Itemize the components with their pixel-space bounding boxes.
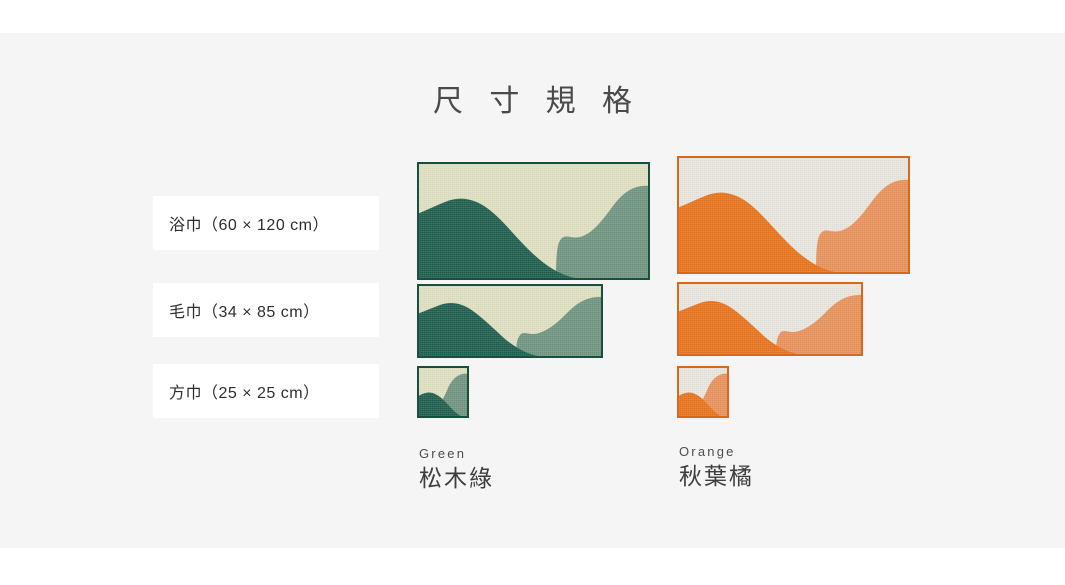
- towel-pattern-art: [417, 162, 650, 280]
- colorway-name-en: Orange: [679, 443, 754, 460]
- size-label-hand-towel: 毛巾（34 × 85 cm）: [153, 283, 379, 337]
- towel-swatch-green-hand: [417, 284, 603, 358]
- size-label-face-towel: 方巾（25 × 25 cm）: [153, 364, 379, 418]
- colorway-name-zh: 松木綠: [419, 463, 494, 493]
- towel-pattern-art: [677, 366, 729, 418]
- towel-swatch-green-face: [417, 366, 469, 418]
- mountain-pattern-full: [677, 156, 910, 274]
- size-label-bath-towel: 浴巾（60 × 120 cm）: [153, 196, 379, 250]
- mountain-pattern-small: [417, 366, 469, 418]
- towel-swatch-orange-face: [677, 366, 729, 418]
- towel-pattern-art: [417, 366, 469, 418]
- size-label-text: 方巾（25 × 25 cm）: [169, 379, 320, 403]
- colorway-caption-orange: Orange 秋葉橘: [679, 443, 754, 491]
- mountain-pattern-medium: [677, 282, 863, 356]
- towel-swatch-orange-hand: [677, 282, 863, 356]
- colorway-name-zh: 秋葉橘: [679, 461, 754, 491]
- mountain-pattern-small: [677, 366, 729, 418]
- page-title: 尺 寸 規 格: [0, 76, 1065, 120]
- towel-pattern-art: [417, 284, 603, 358]
- towel-swatch-green-bath: [417, 162, 650, 280]
- towel-pattern-art: [677, 156, 910, 274]
- colorway-name-en: Green: [419, 445, 494, 462]
- mountain-pattern-medium: [417, 284, 603, 358]
- size-label-text: 浴巾（60 × 120 cm）: [169, 211, 329, 235]
- colorway-caption-green: Green 松木綠: [419, 445, 494, 493]
- size-label-text: 毛巾（34 × 85 cm）: [169, 298, 320, 322]
- towel-swatch-orange-bath: [677, 156, 910, 274]
- towel-pattern-art: [677, 282, 863, 356]
- mountain-pattern-full: [417, 162, 650, 280]
